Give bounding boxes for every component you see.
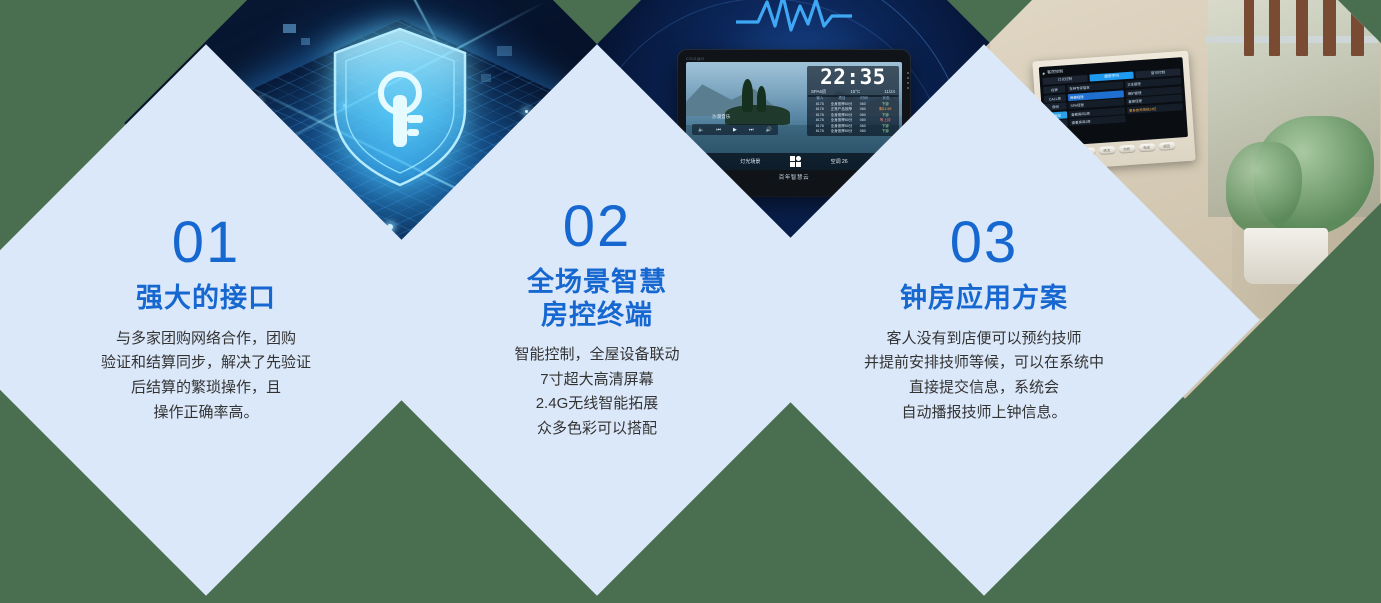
panel-02-description: 智能控制，全屋设备联动 7寸超大高清屏幕 2.4G无线智能拓展 众多色彩可以搭配 [514, 343, 679, 442]
panel-01-title: 强大的接口 [136, 282, 276, 314]
cell-time: 060 [852, 129, 874, 135]
table-body: 8178全身按摩60分钟060下钟8178正常产品按摩疗程060剩11:5981… [809, 102, 897, 135]
logo-mark-icon: ◈ [1042, 70, 1045, 75]
plant-pot [1244, 228, 1328, 284]
tablet-top-bar: CSIZ@O [686, 55, 902, 62]
wall-panel-side-button[interactable]: 在钟 [1043, 85, 1065, 94]
chip-block [481, 74, 491, 82]
media-controls[interactable]: 🔈 ⏮ ▶ ⏭ 🔊 [692, 124, 778, 135]
cell-guest: 8178 [809, 129, 831, 135]
panel-01-description: 与多家团购网络合作，团购 验证和结算同步，解决了先验证 后结算的繁琐操作，且 操… [101, 327, 311, 426]
wall-panel-hardware-button[interactable]: 返回 [1158, 142, 1176, 151]
table-row[interactable]: 8178全身按摩60分钟060下钟 [809, 129, 897, 135]
panel-03-title: 钟房应用方案 [900, 282, 1068, 314]
chip-block [283, 24, 296, 33]
previous-icon[interactable]: ⏮ [716, 126, 721, 132]
clock-time: 22:35 [810, 68, 896, 88]
wood-slat [1244, 0, 1254, 56]
panel-01-number: 01 [172, 214, 241, 272]
wall-panel-left-column[interactable]: 在钟专家管家保健经理SPA经理查看房间2房查看房间2房 [1067, 81, 1126, 126]
wall-panel-right-column[interactable]: 卫生管理维护管理客房经理更多技师排班24位 [1125, 77, 1184, 122]
panel-03-number: 03 [950, 214, 1019, 272]
status-badge: 剩11:59 [874, 107, 898, 113]
tablet-side-dots [907, 72, 909, 89]
wall-panel-hardware-button[interactable]: 清洁 [1098, 146, 1116, 155]
chip-block [497, 46, 512, 56]
shield-lock-icon [325, 23, 475, 191]
tree-shape [742, 79, 753, 111]
wall-panel-hardware-button[interactable]: 勿扰 [1118, 145, 1136, 154]
bottom-button-light[interactable]: 灯光场景 [740, 158, 760, 165]
tree-shape [757, 86, 766, 112]
play-icon[interactable]: ▶ [733, 127, 737, 133]
panel-02-number: 02 [563, 198, 632, 256]
pulse-waveform-icon [736, 0, 852, 36]
clock-widget: 22:35 SPA6房 15°C 11/24 [807, 66, 899, 97]
tablet-logo: 百年智慧云 [779, 173, 810, 181]
panel-02-title: 全场景智慧 房控终端 [527, 266, 667, 331]
diamond-feature-strip: circuit-board-shield CSIZ@O [0, 0, 1381, 603]
next-icon[interactable]: ⏭ [749, 126, 754, 132]
wood-slat [1323, 0, 1336, 56]
bottom-button-ac[interactable]: 空调 26 [831, 158, 848, 165]
status-badge: 等上钟 [874, 118, 898, 124]
apps-grid-icon[interactable] [790, 156, 802, 168]
panel-03-description: 客人没有到店便可以预约技师 并提前安排技师等候，可以在系统中 直接提交信息，系统… [864, 327, 1104, 426]
wood-slat [1351, 0, 1364, 56]
cell-item: 全身按摩60分钟 [831, 129, 853, 135]
chip-block [301, 38, 310, 45]
wood-slat [1269, 0, 1280, 56]
wall-panel-hardware-button[interactable]: 电话 [1138, 143, 1156, 152]
media-scene-label: 沙漠音乐 [712, 114, 730, 120]
date-label: 11/24 [884, 89, 895, 94]
wood-slat [1296, 0, 1308, 56]
volume-icon[interactable]: 🔈 [698, 126, 704, 132]
wall-panel-title: 客房控制 [1047, 68, 1063, 75]
tablet-brand-mini: CSIZ@O [686, 56, 705, 61]
temperature-label: 15°C [850, 89, 860, 94]
th-status: 状态 [875, 96, 897, 102]
tablet-screen[interactable]: 沙漠音乐 🔈 ⏮ ▶ ⏭ 🔊 22:35 SPA6房 15°C 11/24 [686, 62, 902, 170]
service-table: 客人 项目 时间 状态 8178全身按摩60分钟060下钟8178正常产品按摩疗… [807, 95, 899, 136]
wall-panel-body: 在钟CALL房房间服务区查钟 在钟专家管家保健经理SPA经理查看房间2房查看房间… [1043, 77, 1184, 128]
wall-panel-side-button[interactable]: CALL房 [1044, 94, 1066, 103]
wall-panel-columns: 在钟专家管家保健经理SPA经理查看房间2房查看房间2房 卫生管理维护管理客房经理… [1067, 77, 1184, 126]
volume-up-icon[interactable]: 🔊 [766, 126, 772, 132]
